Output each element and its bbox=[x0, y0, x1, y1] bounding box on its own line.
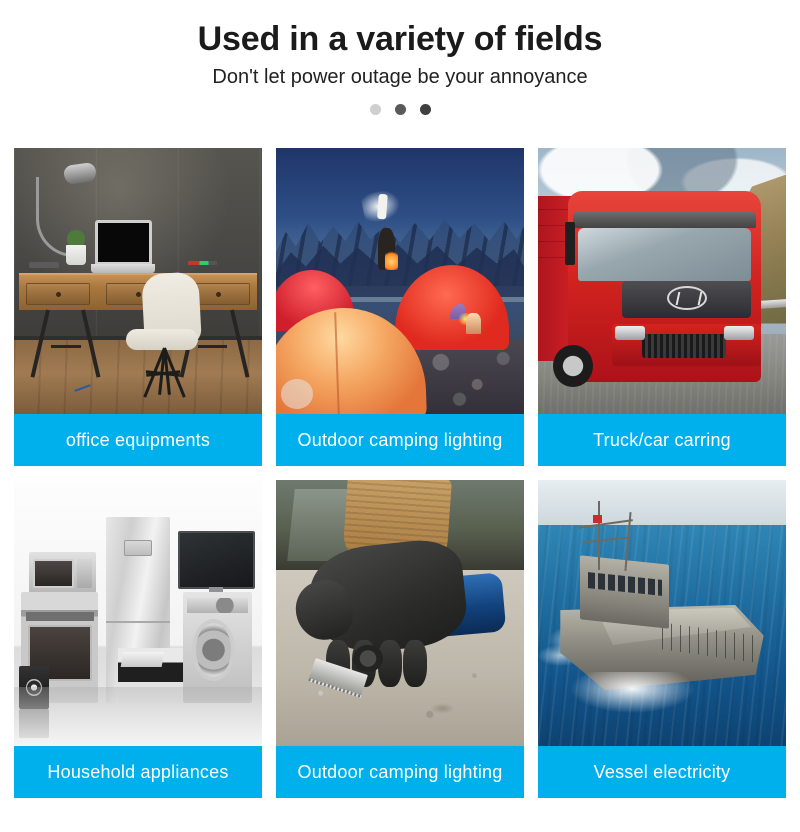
truck-scene bbox=[538, 148, 786, 414]
laptop-base bbox=[91, 264, 155, 273]
windshield bbox=[578, 228, 752, 281]
card-caption-household-appliances: Household appliances bbox=[14, 746, 262, 798]
flame-icon bbox=[385, 249, 397, 270]
card-caption-outdoor-camping-top: Outdoor camping lighting bbox=[276, 414, 524, 466]
card-caption-vessel-electricity: Vessel electricity bbox=[538, 746, 786, 798]
card-caption-truck-car-carring: Truck/car carring bbox=[538, 414, 786, 466]
carousel-dot-3[interactable] bbox=[420, 104, 431, 115]
card-outdoor-camping-top[interactable]: Outdoor camping lighting bbox=[276, 148, 524, 466]
flag-icon bbox=[593, 515, 603, 523]
vessel-scene bbox=[538, 480, 786, 746]
header: Used in a variety of fields Don't let po… bbox=[0, 0, 800, 115]
mast bbox=[598, 501, 600, 570]
bumper-vent bbox=[642, 334, 726, 358]
television-icon bbox=[178, 531, 255, 590]
blade-mount bbox=[353, 645, 383, 672]
card-office-equipments[interactable]: office equipments bbox=[14, 148, 262, 466]
appliances-photo bbox=[14, 480, 262, 746]
plant-pot bbox=[66, 245, 86, 265]
page-subtitle: Don't let power outage be your annoyance bbox=[0, 62, 800, 92]
appliances-scene bbox=[14, 480, 262, 746]
laptop-icon bbox=[95, 220, 152, 265]
desk bbox=[19, 273, 257, 310]
chair-legs bbox=[138, 348, 188, 401]
headlight-right bbox=[724, 326, 754, 339]
carousel-dots bbox=[0, 104, 800, 115]
desk-lamp-base bbox=[29, 262, 59, 267]
bow-wake bbox=[568, 672, 697, 715]
tent-door bbox=[466, 313, 481, 334]
floor-reflection bbox=[14, 687, 262, 746]
office-scene bbox=[14, 148, 262, 414]
carousel-dot-1[interactable] bbox=[370, 104, 381, 115]
card-caption-office-equipments: office equipments bbox=[14, 414, 262, 466]
watermark-badge bbox=[281, 379, 313, 408]
rocks bbox=[420, 340, 524, 414]
truck-photo bbox=[538, 148, 786, 414]
card-vessel-electricity[interactable]: Vessel electricity bbox=[538, 480, 786, 798]
dust bbox=[430, 703, 455, 714]
sun-visor bbox=[573, 212, 757, 228]
side-mirror bbox=[565, 222, 575, 265]
page-title: Used in a variety of fields bbox=[0, 18, 800, 60]
carousel-dot-2[interactable] bbox=[395, 104, 406, 115]
fields-grid: office equipments bbox=[14, 148, 786, 798]
microwave-icon bbox=[29, 552, 96, 595]
brand-emblem-icon bbox=[667, 286, 707, 310]
hazy-sky bbox=[538, 480, 786, 525]
promo-page: Used in a variety of fields Don't let po… bbox=[0, 0, 800, 832]
camping-scene bbox=[276, 148, 524, 414]
camping-photo-top bbox=[276, 148, 524, 414]
power-tool-scene: BOSCH GOP 250 CE bbox=[276, 480, 524, 746]
card-outdoor-camping-bottom[interactable]: BOSCH GOP 250 CE Outdoor camping lightin… bbox=[276, 480, 524, 798]
desk-crossbar bbox=[51, 345, 81, 348]
desk-accessories bbox=[188, 261, 218, 265]
desk-crossbar bbox=[198, 345, 228, 348]
card-household-appliances[interactable]: Household appliances bbox=[14, 480, 262, 798]
tool-photo: BOSCH GOP 250 CE bbox=[276, 480, 524, 746]
card-truck-car-carring[interactable]: Truck/car carring bbox=[538, 148, 786, 466]
vessel-photo bbox=[538, 480, 786, 746]
fridge-display bbox=[124, 540, 152, 557]
card-caption-outdoor-camping-bottom: Outdoor camping lighting bbox=[276, 746, 524, 798]
front-wheel bbox=[553, 345, 593, 388]
headlight-left bbox=[615, 326, 645, 339]
desk-drawer bbox=[26, 283, 90, 304]
office-photo bbox=[14, 148, 262, 414]
